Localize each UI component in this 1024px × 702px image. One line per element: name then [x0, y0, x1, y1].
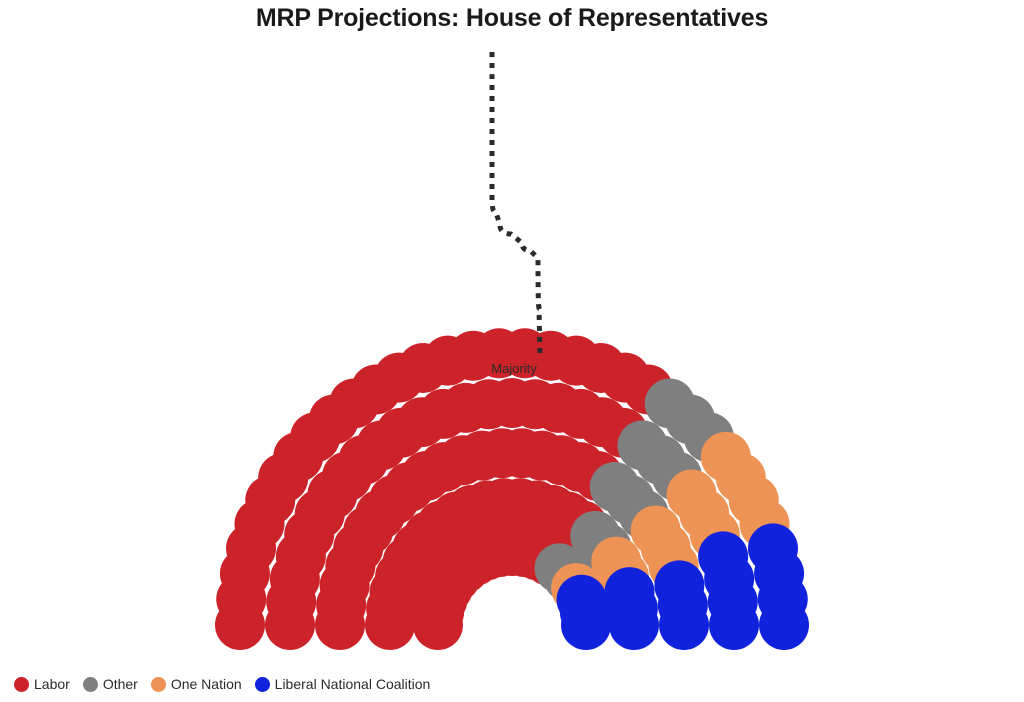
parliament-seating-svg: Majority [0, 0, 1024, 702]
legend-swatch-icon [151, 677, 166, 692]
majority-label: Majority [491, 361, 537, 376]
parliament-chart: MRP Projections: House of Representative… [0, 0, 1024, 702]
seat-dot[interactable] [709, 600, 759, 650]
legend: LaborOtherOne NationLiberal National Coa… [14, 672, 437, 696]
majority-line-group [492, 52, 540, 358]
seats-layer [215, 328, 809, 650]
legend-item-one-nation[interactable]: One Nation [151, 676, 242, 692]
legend-swatch-icon [255, 677, 270, 692]
seat-dot[interactable] [561, 600, 611, 650]
legend-item-lnc[interactable]: Liberal National Coalition [255, 676, 431, 692]
seat-dot[interactable] [659, 600, 709, 650]
legend-item-other[interactable]: Other [83, 676, 138, 692]
majority-dashed-line [492, 52, 540, 358]
seat-dot[interactable] [609, 600, 659, 650]
seat-dot[interactable] [759, 600, 809, 650]
legend-item-label: Labor [34, 676, 70, 692]
legend-item-label: Other [103, 676, 138, 692]
legend-item-labor[interactable]: Labor [14, 676, 70, 692]
legend-swatch-icon [14, 677, 29, 692]
legend-swatch-icon [83, 677, 98, 692]
legend-item-label: Liberal National Coalition [275, 676, 431, 692]
legend-item-label: One Nation [171, 676, 242, 692]
